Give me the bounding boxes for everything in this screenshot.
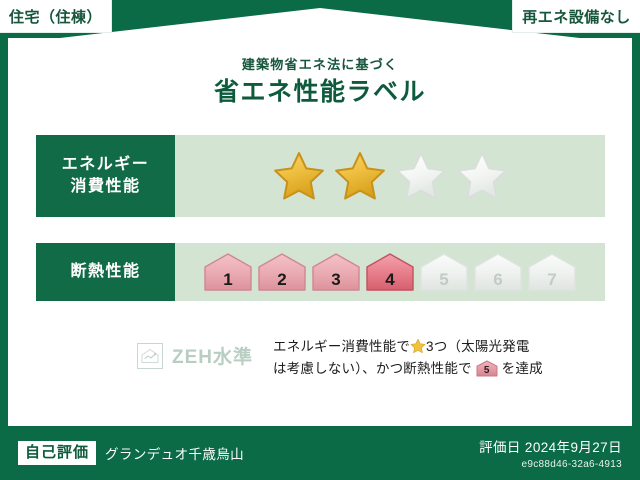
building-type-chip-label: 住宅（住棟）	[9, 6, 102, 27]
renewable-equipment-chip: 再エネ設備なし	[512, 0, 640, 33]
energy-performance-label: 住宅（住棟） 再エネ設備なし 建築物省エネ法に基づく 省エネ性能ラベル エネルギ…	[0, 0, 640, 480]
insulation-performance-row: 断熱性能 1234567	[36, 243, 605, 301]
zeh-description-part3: は考慮しない）、かつ断熱性能で	[273, 361, 472, 376]
insulation-level-number: 3	[311, 271, 361, 288]
insulation-level-number: 7	[527, 271, 577, 288]
insulation-level-number: 6	[473, 271, 523, 288]
star-empty-icon	[455, 149, 509, 203]
insulation-level-5-inline-badge: 5	[476, 360, 498, 377]
zeh-standard-name: ZEH水準	[172, 342, 253, 369]
insulation-level-badge: 1	[203, 252, 253, 292]
zeh-description-part1: エネルギー消費性能で	[273, 339, 410, 354]
star-rating	[272, 149, 509, 203]
insulation-level-scale: 1234567	[203, 252, 577, 292]
insulation-level-number: 2	[257, 271, 307, 288]
insulation-level-number: 5	[419, 271, 469, 288]
footer-right-group: 評価日 2024年9月27日 e9c88d46-32a6-4913	[479, 436, 622, 470]
zeh-mark: ZEH水準	[137, 342, 253, 369]
insulation-performance-label-box: 断熱性能	[36, 243, 175, 301]
insulation-level-badge: 4	[365, 252, 415, 292]
energy-performance-label-line2: 消費性能	[70, 176, 140, 198]
insulation-level-badge: 3	[311, 252, 361, 292]
label-subtitle: 建築物省エネ法に基づく	[0, 58, 640, 72]
star-empty-icon	[394, 149, 448, 203]
insulation-performance-label: 断熱性能	[70, 261, 140, 283]
star-icon	[410, 338, 426, 354]
title-block: 建築物省エネ法に基づく 省エネ性能ラベル	[0, 58, 640, 107]
zeh-description-part2: 3つ（太陽光発電	[426, 339, 530, 354]
insulation-level-5-inline-number: 5	[476, 366, 498, 376]
self-evaluation-badge: 自己評価	[18, 441, 96, 465]
energy-performance-row: エネルギー 消費性能	[36, 135, 605, 217]
footer-left-group: 自己評価 グランデュオ千歳烏山	[18, 441, 244, 465]
energy-performance-panel	[175, 135, 605, 217]
insulation-level-badge: 6	[473, 252, 523, 292]
label-footer: 自己評価 グランデュオ千歳烏山 評価日 2024年9月27日 e9c88d46-…	[0, 426, 640, 480]
energy-performance-label-box: エネルギー 消費性能	[36, 135, 175, 217]
star-filled-icon	[333, 149, 387, 203]
zeh-description: エネルギー消費性能で 3つ（太陽光発電 は考慮しない）、かつ断熱性能で	[273, 336, 543, 380]
star-filled-icon	[272, 149, 326, 203]
building-type-chip: 住宅（住棟）	[0, 0, 112, 33]
evaluation-date: 評価日 2024年9月27日	[479, 436, 622, 456]
insulation-level-number: 4	[365, 271, 415, 288]
insulation-performance-panel: 1234567	[175, 243, 605, 301]
insulation-level-number: 1	[203, 271, 253, 288]
label-title: 省エネ性能ラベル	[0, 79, 640, 107]
insulation-level-badge: 5	[419, 252, 469, 292]
evaluation-id: e9c88d46-32a6-4913	[479, 459, 622, 470]
zeh-standard-block: ZEH水準 エネルギー消費性能で 3つ（太陽光発電 は考慮しない）、かつ断熱性能…	[137, 336, 557, 380]
insulation-level-badge: 7	[527, 252, 577, 292]
insulation-level-badge: 2	[257, 252, 307, 292]
energy-performance-label-line1: エネルギー	[62, 154, 150, 176]
building-name: グランデュオ千歳烏山	[105, 443, 244, 463]
zeh-house-icon	[137, 343, 163, 369]
zeh-description-part4: を達成	[502, 361, 543, 376]
renewable-equipment-chip-label: 再エネ設備なし	[522, 6, 631, 27]
